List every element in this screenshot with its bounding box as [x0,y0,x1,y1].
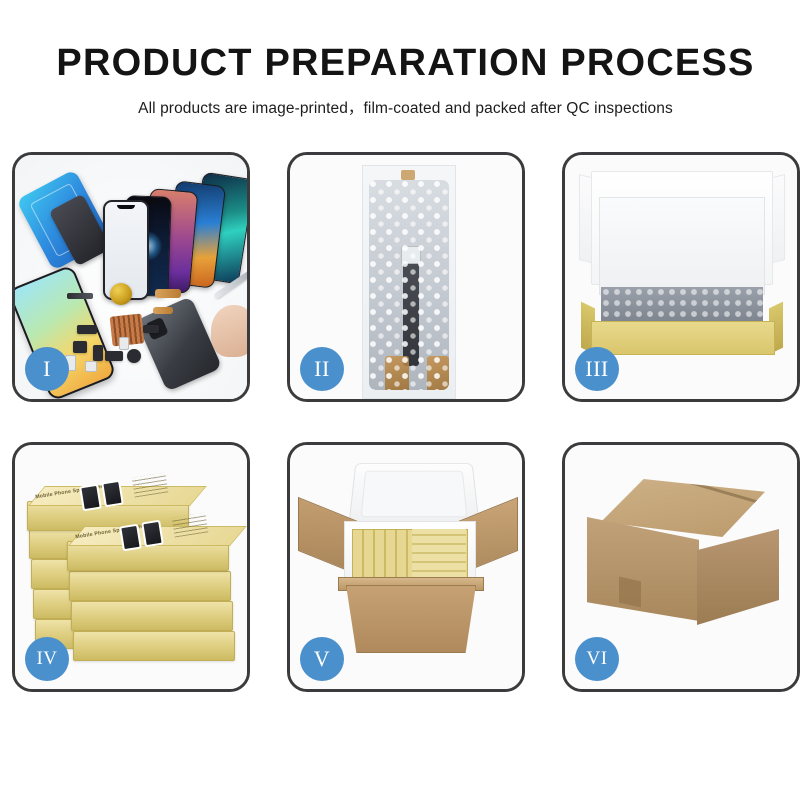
chip-part-5 [143,325,159,333]
box-artwork-screen-rear-1 [81,486,99,509]
bubble-wrapped-contents [601,287,763,323]
gold-box-front-1 [73,631,235,661]
process-step-panel-4: Mobile Phone Spare Parts Mobile Phone Sp… [12,442,250,692]
process-step-panel-2: II [287,152,525,402]
process-step-panel-3: III [562,152,800,402]
speaker-module [110,283,132,305]
carton-top-seam [647,469,761,504]
step-6-image: VI [565,445,797,689]
seal-tape [401,170,415,180]
step-badge-6: VI [575,637,619,681]
box-lid-inner [599,197,765,295]
sealed-carton [587,479,779,631]
chip-part-3 [93,345,103,361]
gold-box-front-3 [69,571,231,601]
flex-cable-2 [153,307,173,314]
taptic-engine [127,349,141,363]
chip-part-4 [105,351,123,361]
earpiece-bar [67,293,93,299]
carton-right-face [697,529,779,625]
gold-tray-front [591,321,775,355]
gold-box-top-front [67,541,229,571]
process-step-panel-5: V [287,442,525,692]
step-2-image: II [290,155,522,399]
small-white-part-2 [85,361,97,372]
page-title: PRODUCT PREPARATION PROCESS [0,44,811,84]
foam-box-lid [348,463,480,526]
chip-part-1 [77,325,97,334]
gold-boxes-inside-right [412,529,466,579]
step-1-image: I [15,155,247,399]
page-subtitle: All products are image-printed，film-coat… [0,96,811,118]
small-white-part-3 [119,337,129,350]
box-artwork-screen-front-2 [143,522,161,545]
flex-cable-1 [155,289,181,298]
carton-left-face [587,517,699,621]
step-badge-1: I [25,347,69,391]
carton-tape-upper [619,577,641,608]
step-badge-3: III [575,347,619,391]
step-badge-2: II [300,347,344,391]
box-artwork-screen-rear-2 [103,482,121,505]
step-badge-4: IV [25,637,69,681]
gold-box-stack: Mobile Phone Spare Parts Mobile Phone Sp… [21,467,245,663]
step-4-image: Mobile Phone Spare Parts Mobile Phone Sp… [15,445,247,689]
box-artwork-screen-front-1 [121,526,139,549]
step-5-image: V [290,445,522,689]
bubble-wrap-bag [362,165,456,399]
phone-notch-icon [117,205,135,209]
gold-box-front-2 [71,601,233,631]
bubble-wrap-inner [369,180,449,390]
phone-screen-fan [99,173,249,293]
step-badge-5: V [300,637,344,681]
page-header: PRODUCT PREPARATION PROCESS All products… [0,0,811,118]
technician-hand [211,305,250,357]
process-step-panel-1: I [12,152,250,402]
carton-tape-lower [621,633,643,662]
chip-part-2 [73,341,87,353]
bubble-texture [369,180,449,390]
process-step-panel-6: VI [562,442,800,692]
carton-front-panel [346,585,476,653]
step-3-image: III [565,155,797,399]
process-steps-grid: I II [12,152,800,692]
